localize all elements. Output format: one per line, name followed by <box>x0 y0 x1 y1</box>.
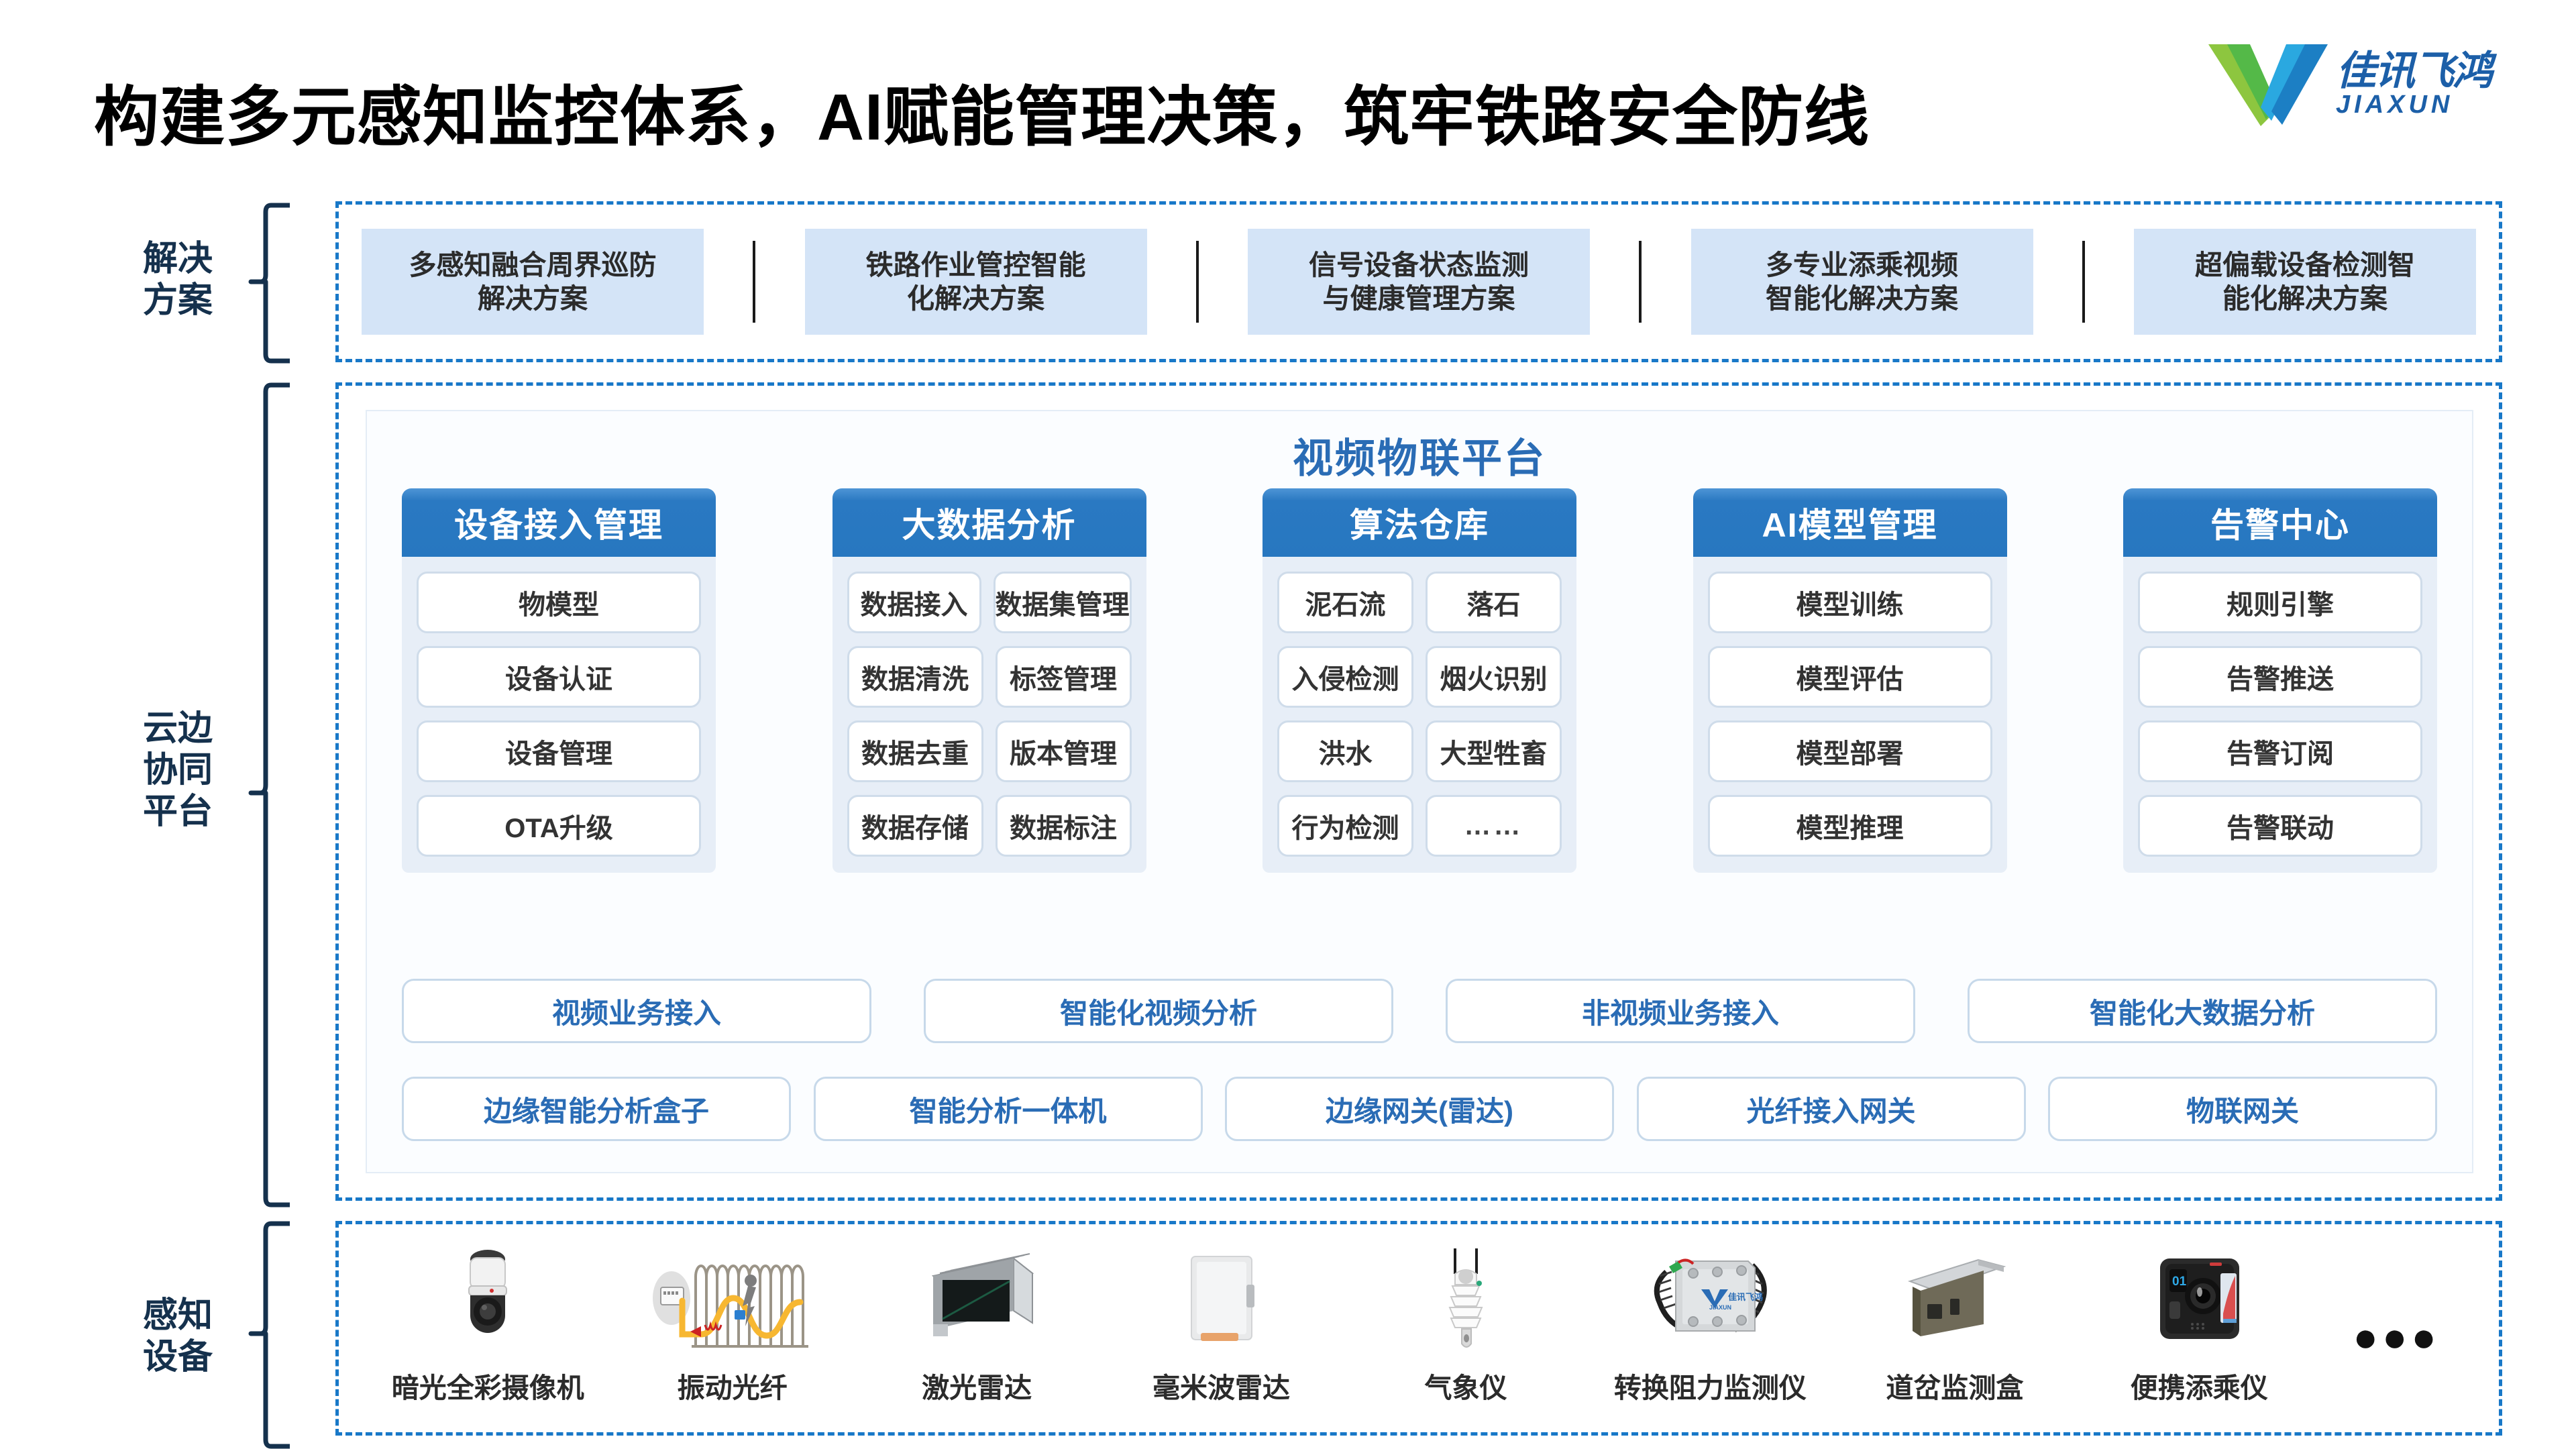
device-label: 道岔监测盒 <box>1886 1365 2023 1405</box>
solution-label-line1: 超偏载设备检测智 <box>2195 248 2415 282</box>
row-label-platform-line2: 协同 <box>101 749 255 791</box>
solution-label-line2: 能化解决方案 <box>2195 282 2415 315</box>
edge-pill[interactable]: 光纤接入网关 <box>1637 1077 2026 1141</box>
solutions-list: 多感知融合周界巡防 解决方案 铁路作业管控智能 化解决方案 信号设备状态监测 与… <box>339 205 2499 359</box>
cell-row: 数据接入 数据集管理 <box>847 572 1132 633</box>
row-label-devices-line2: 设备 <box>101 1336 255 1378</box>
capability-cell-more[interactable]: …… <box>1426 795 1562 857</box>
capability-cell[interactable]: 落石 <box>1426 572 1562 633</box>
edge-pill[interactable]: 边缘智能分析盒子 <box>402 1077 791 1141</box>
company-logo: 佳讯飞鸿 JIAXUN <box>2207 35 2509 132</box>
capability-cell[interactable]: 模型推理 <box>1708 795 1992 857</box>
capability-cell[interactable]: 告警联动 <box>2138 795 2422 857</box>
cell-row: 物模型 <box>417 572 701 633</box>
vibration-fiber-fence-icon <box>632 1243 833 1356</box>
device-item[interactable]: 气象仪 <box>1365 1243 1566 1405</box>
logo-wordmark: 佳讯飞鸿 JIAXUN <box>2336 50 2491 118</box>
row-label-solutions: 解决 方案 <box>101 238 255 321</box>
svg-text:01: 01 <box>2172 1275 2187 1289</box>
capability-cell[interactable]: 大型牲畜 <box>1426 720 1562 782</box>
service-pill[interactable]: 视频业务接入 <box>402 979 871 1043</box>
solution-card[interactable]: 多感知融合周界巡防 解决方案 <box>362 229 704 335</box>
column-body: 泥石流 落石 入侵检测 烟火识别 洪水 大型牲畜 行为检测 …… <box>1263 557 1576 873</box>
device-item[interactable]: 暗光全彩摄像机 <box>387 1243 588 1405</box>
column-body: 模型训练 模型评估 模型部署 模型推理 <box>1693 557 2007 873</box>
cell-row: OTA升级 <box>417 795 701 857</box>
page-title: 构建多元感知监控体系，AI赋能管理决策，筑牢铁路安全防线 <box>94 64 1870 158</box>
device-item[interactable]: 道岔监测盒 <box>1854 1243 2055 1405</box>
capability-cell[interactable]: 设备认证 <box>417 646 701 708</box>
logo-mark-icon <box>2207 40 2341 127</box>
capability-cell[interactable]: 模型部署 <box>1708 720 1992 782</box>
capability-cell[interactable]: 烟火识别 <box>1426 646 1562 708</box>
capability-cell[interactable]: 数据存储 <box>847 795 983 857</box>
solution-divider <box>2082 241 2085 323</box>
switch-monitor-box-icon <box>1854 1243 2055 1356</box>
capability-cell[interactable]: 标签管理 <box>996 646 1132 708</box>
capability-cell[interactable]: 数据集管理 <box>994 572 1132 633</box>
device-item[interactable]: 毫米波雷达 <box>1121 1243 1322 1405</box>
mmwave-radar-icon <box>1121 1243 1322 1356</box>
device-label: 激光雷达 <box>922 1365 1032 1405</box>
cell-row: 模型部署 <box>1708 720 1992 782</box>
logo-text-en: JIAXUN <box>2336 91 2453 118</box>
service-access-row: 视频业务接入 智能化视频分析 非视频业务接入 智能化大数据分析 <box>402 979 2437 1043</box>
devices-list: 暗光全彩摄像机 <box>339 1224 2499 1432</box>
capability-cell[interactable]: 告警推送 <box>2138 646 2422 708</box>
capability-cell[interactable]: OTA升级 <box>417 795 701 857</box>
column-header[interactable]: 告警中心 <box>2123 488 2437 557</box>
solution-label-line2: 解决方案 <box>409 282 657 315</box>
solution-label-line1: 多专业添乘视频 <box>1766 248 1958 282</box>
logo-text-cn: 佳讯飞鸿 <box>2336 50 2491 93</box>
lidar-icon <box>876 1243 1077 1356</box>
capability-cell[interactable]: 入侵检测 <box>1277 646 1413 708</box>
column-body: 规则引擎 告警推送 告警订阅 告警联动 <box>2123 557 2437 873</box>
cell-row: 模型训练 <box>1708 572 1992 633</box>
cell-row: 泥石流 落石 <box>1277 572 1562 633</box>
cell-row: 告警推送 <box>2138 646 2422 708</box>
device-label: 便携添乘仪 <box>2131 1365 2268 1405</box>
service-pill[interactable]: 非视频业务接入 <box>1446 979 1915 1043</box>
capability-cell[interactable]: 数据接入 <box>847 572 981 633</box>
column-header[interactable]: 算法仓库 <box>1263 488 1576 557</box>
solution-label-line2: 智能化解决方案 <box>1766 282 1958 315</box>
solution-label-line2: 与健康管理方案 <box>1309 282 1529 315</box>
capability-cell[interactable]: 洪水 <box>1277 720 1413 782</box>
solution-label-line1: 信号设备状态监测 <box>1309 248 1529 282</box>
edge-device-row: 边缘智能分析盒子 智能分析一体机 边缘网关(雷达) 光纤接入网关 物联网关 <box>402 1077 2437 1141</box>
cell-row: 告警订阅 <box>2138 720 2422 782</box>
capability-cell[interactable]: 模型评估 <box>1708 646 1992 708</box>
row-label-platform-line3: 平台 <box>101 791 255 833</box>
cell-row: 模型推理 <box>1708 795 1992 857</box>
column-header[interactable]: 大数据分析 <box>833 488 1146 557</box>
column-header[interactable]: 设备接入管理 <box>402 488 716 557</box>
bracket-platform <box>248 382 295 1207</box>
sensing-devices-section: 暗光全彩摄像机 <box>335 1221 2502 1436</box>
device-item[interactable]: 振动光纤 <box>632 1243 833 1405</box>
device-label: 暗光全彩摄像机 <box>392 1365 584 1405</box>
platform-section: 视频物联平台 设备接入管理 物模型 设备认证 设备管理 OTA升 <box>335 382 2502 1201</box>
cell-row: 入侵检测 烟火识别 <box>1277 646 1562 708</box>
solution-label-line2: 化解决方案 <box>866 282 1086 315</box>
resistance-monitor-icon: 佳讯飞鸿 JIAXUN <box>1609 1243 1811 1356</box>
row-label-solutions-line1: 解决 <box>101 238 255 280</box>
platform-column-alarm-center: 告警中心 规则引擎 告警推送 告警订阅 告警联动 <box>2123 488 2437 873</box>
solution-card[interactable]: 超偏载设备检测智 能化解决方案 <box>2134 229 2476 335</box>
capability-cell[interactable]: 物模型 <box>417 572 701 633</box>
platform-title: 视频物联平台 <box>367 426 2472 484</box>
column-body: 物模型 设备认证 设备管理 OTA升级 <box>402 557 716 873</box>
devices-more-ellipsis: ●●● <box>2343 1243 2451 1391</box>
row-label-platform: 云边 协同 平台 <box>101 708 255 833</box>
cell-row: 规则引擎 <box>2138 572 2422 633</box>
cell-row: 数据去重 版本管理 <box>847 720 1132 782</box>
row-label-devices-line1: 感知 <box>101 1295 255 1336</box>
solution-label-line1: 铁路作业管控智能 <box>866 248 1086 282</box>
capability-cell[interactable]: 规则引擎 <box>2138 572 2422 633</box>
portable-recorder-icon: 01 <box>2098 1243 2300 1356</box>
cell-row: 行为检测 …… <box>1277 795 1562 857</box>
solution-divider <box>1196 241 1199 323</box>
capability-cell[interactable]: 泥石流 <box>1277 572 1413 633</box>
device-label: 振动光纤 <box>678 1365 788 1405</box>
bracket-solutions <box>248 203 295 364</box>
solution-card[interactable]: 信号设备状态监测 与健康管理方案 <box>1248 229 1590 335</box>
cell-row: 数据存储 数据标注 <box>847 795 1132 857</box>
platform-column-ai-model: AI模型管理 模型训练 模型评估 模型部署 模型推理 <box>1693 488 2007 873</box>
weather-station-icon <box>1365 1243 1566 1356</box>
solutions-section: 多感知融合周界巡防 解决方案 铁路作业管控智能 化解决方案 信号设备状态监测 与… <box>335 201 2502 362</box>
capability-cell[interactable]: 告警订阅 <box>2138 720 2422 782</box>
svg-text:佳讯飞鸿: 佳讯飞鸿 <box>1728 1292 1763 1302</box>
solution-divider <box>753 241 755 323</box>
cell-row: 数据清洗 标签管理 <box>847 646 1132 708</box>
edge-pill[interactable]: 物联网关 <box>2048 1077 2437 1141</box>
capability-cell[interactable]: 数据标注 <box>996 795 1132 857</box>
device-item[interactable]: 佳讯飞鸿 JIAXUN 转换阻力监测仪 <box>1609 1243 1811 1405</box>
capability-cell[interactable]: 数据清洗 <box>847 646 983 708</box>
column-body: 数据接入 数据集管理 数据清洗 标签管理 数据去重 版本管理 数据存储 数据标注 <box>833 557 1146 873</box>
device-item[interactable]: 01 便携添乘仪 <box>2098 1243 2300 1405</box>
capability-cell[interactable]: 设备管理 <box>417 720 701 782</box>
solution-card[interactable]: 多专业添乘视频 智能化解决方案 <box>1691 229 2033 335</box>
capability-cell[interactable]: 版本管理 <box>996 720 1132 782</box>
capability-cell[interactable]: 行为检测 <box>1277 795 1413 857</box>
video-iot-platform-panel: 视频物联平台 设备接入管理 物模型 设备认证 设备管理 OTA升 <box>366 410 2473 1173</box>
solution-label-line1: 多感知融合周界巡防 <box>409 248 657 282</box>
device-label: 转换阻力监测仪 <box>1614 1365 1807 1405</box>
cell-row: 模型评估 <box>1708 646 1992 708</box>
cell-row: 设备管理 <box>417 720 701 782</box>
capability-cell[interactable]: 数据去重 <box>847 720 983 782</box>
row-label-devices: 感知 设备 <box>101 1295 255 1378</box>
row-label-platform-line1: 云边 <box>101 708 255 749</box>
solution-card[interactable]: 铁路作业管控智能 化解决方案 <box>805 229 1147 335</box>
cell-row: 告警联动 <box>2138 795 2422 857</box>
platform-column-device-access: 设备接入管理 物模型 设备认证 设备管理 OTA升级 <box>402 488 716 873</box>
platform-column-algorithm-repo: 算法仓库 泥石流 落石 入侵检测 烟火识别 洪水 大型牲畜 <box>1263 488 1576 873</box>
platform-columns: 设备接入管理 物模型 设备认证 设备管理 OTA升级 <box>402 488 2437 873</box>
device-label: 毫米波雷达 <box>1152 1365 1290 1405</box>
edge-pill[interactable]: 智能分析一体机 <box>814 1077 1203 1141</box>
bracket-devices <box>248 1221 295 1449</box>
capability-cell[interactable]: 模型训练 <box>1708 572 1992 633</box>
platform-column-big-data: 大数据分析 数据接入 数据集管理 数据清洗 标签管理 数据去重 版本管理 <box>833 488 1146 873</box>
device-item[interactable]: 激光雷达 <box>876 1243 1077 1405</box>
device-label: 气象仪 <box>1424 1365 1507 1405</box>
svg-text:JIAXUN: JIAXUN <box>1709 1304 1731 1311</box>
solution-divider <box>1639 241 1642 323</box>
service-pill[interactable]: 智能化视频分析 <box>924 979 1393 1043</box>
cell-row: 设备认证 <box>417 646 701 708</box>
row-label-solutions-line2: 方案 <box>101 280 255 321</box>
service-pill[interactable]: 智能化大数据分析 <box>1968 979 2437 1043</box>
cell-row: 洪水 大型牲畜 <box>1277 720 1562 782</box>
column-header[interactable]: AI模型管理 <box>1693 488 2007 557</box>
edge-pill[interactable]: 边缘网关(雷达) <box>1225 1077 1614 1141</box>
page-header: 构建多元感知监控体系，AI赋能管理决策，筑牢铁路安全防线 佳讯飞鸿 JIAXUN <box>0 0 2576 168</box>
ptz-camera-icon <box>387 1243 588 1356</box>
